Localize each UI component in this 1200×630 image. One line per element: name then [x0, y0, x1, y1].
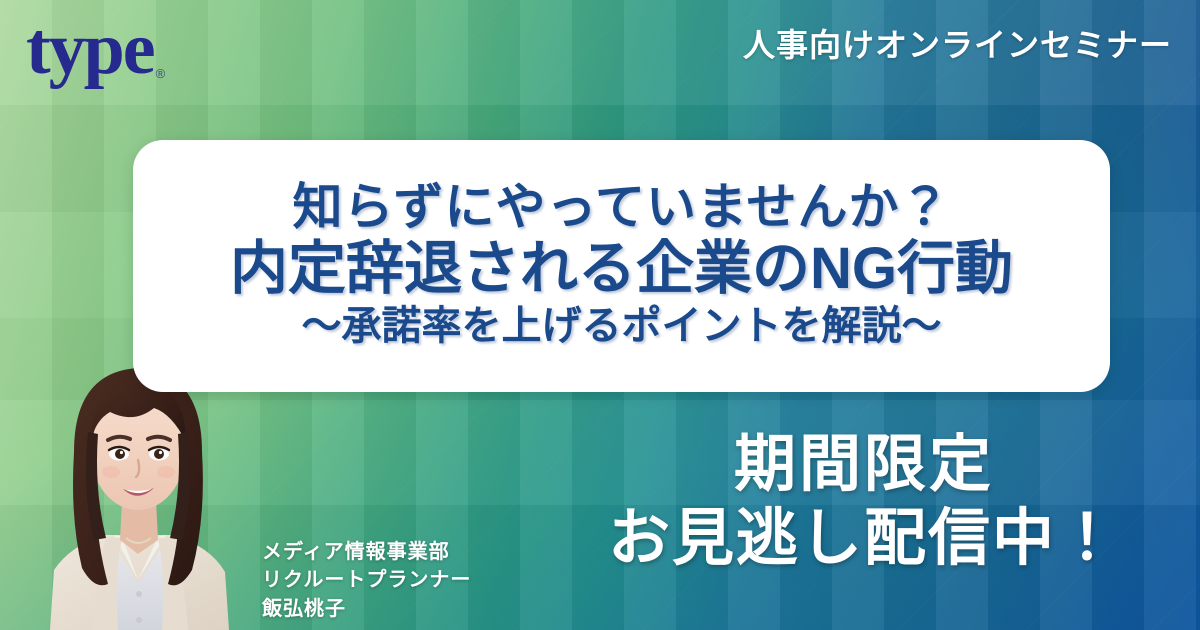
registered-trademark-icon: ®	[156, 67, 166, 80]
speaker-name: 飯弘桃子	[262, 595, 471, 623]
title-line-3: 〜承諾率を上げるポイントを解説〜	[302, 304, 942, 349]
title-line-2: 内定辞退される企業のNG行動	[230, 237, 1013, 302]
seminar-kicker: 人事向けオンラインセミナー	[743, 20, 1172, 66]
speaker-role: リクルートプランナー	[262, 566, 471, 594]
speaker-caption: メディア情報事業部 リクルートプランナー 飯弘桃子	[262, 538, 471, 623]
webinar-banner: type ® 人事向けオンラインセミナー 知らずにやっていませんか？ 内定辞退さ…	[0, 0, 1200, 630]
promo-line-2: お見逃し配信中！	[564, 504, 1164, 574]
speaker-department: メディア情報事業部	[262, 538, 471, 566]
promo-block: 期間限定 お見逃し配信中！	[564, 430, 1164, 574]
title-card: 知らずにやっていませんか？ 内定辞退される企業のNG行動 〜承諾率を上げるポイン…	[133, 140, 1110, 392]
title-line-1: 知らずにやっていませんか？	[293, 179, 951, 235]
promo-line-1: 期間限定	[564, 430, 1164, 500]
type-logo[interactable]: type ®	[26, 14, 165, 84]
logo-wordmark: type	[26, 14, 154, 84]
